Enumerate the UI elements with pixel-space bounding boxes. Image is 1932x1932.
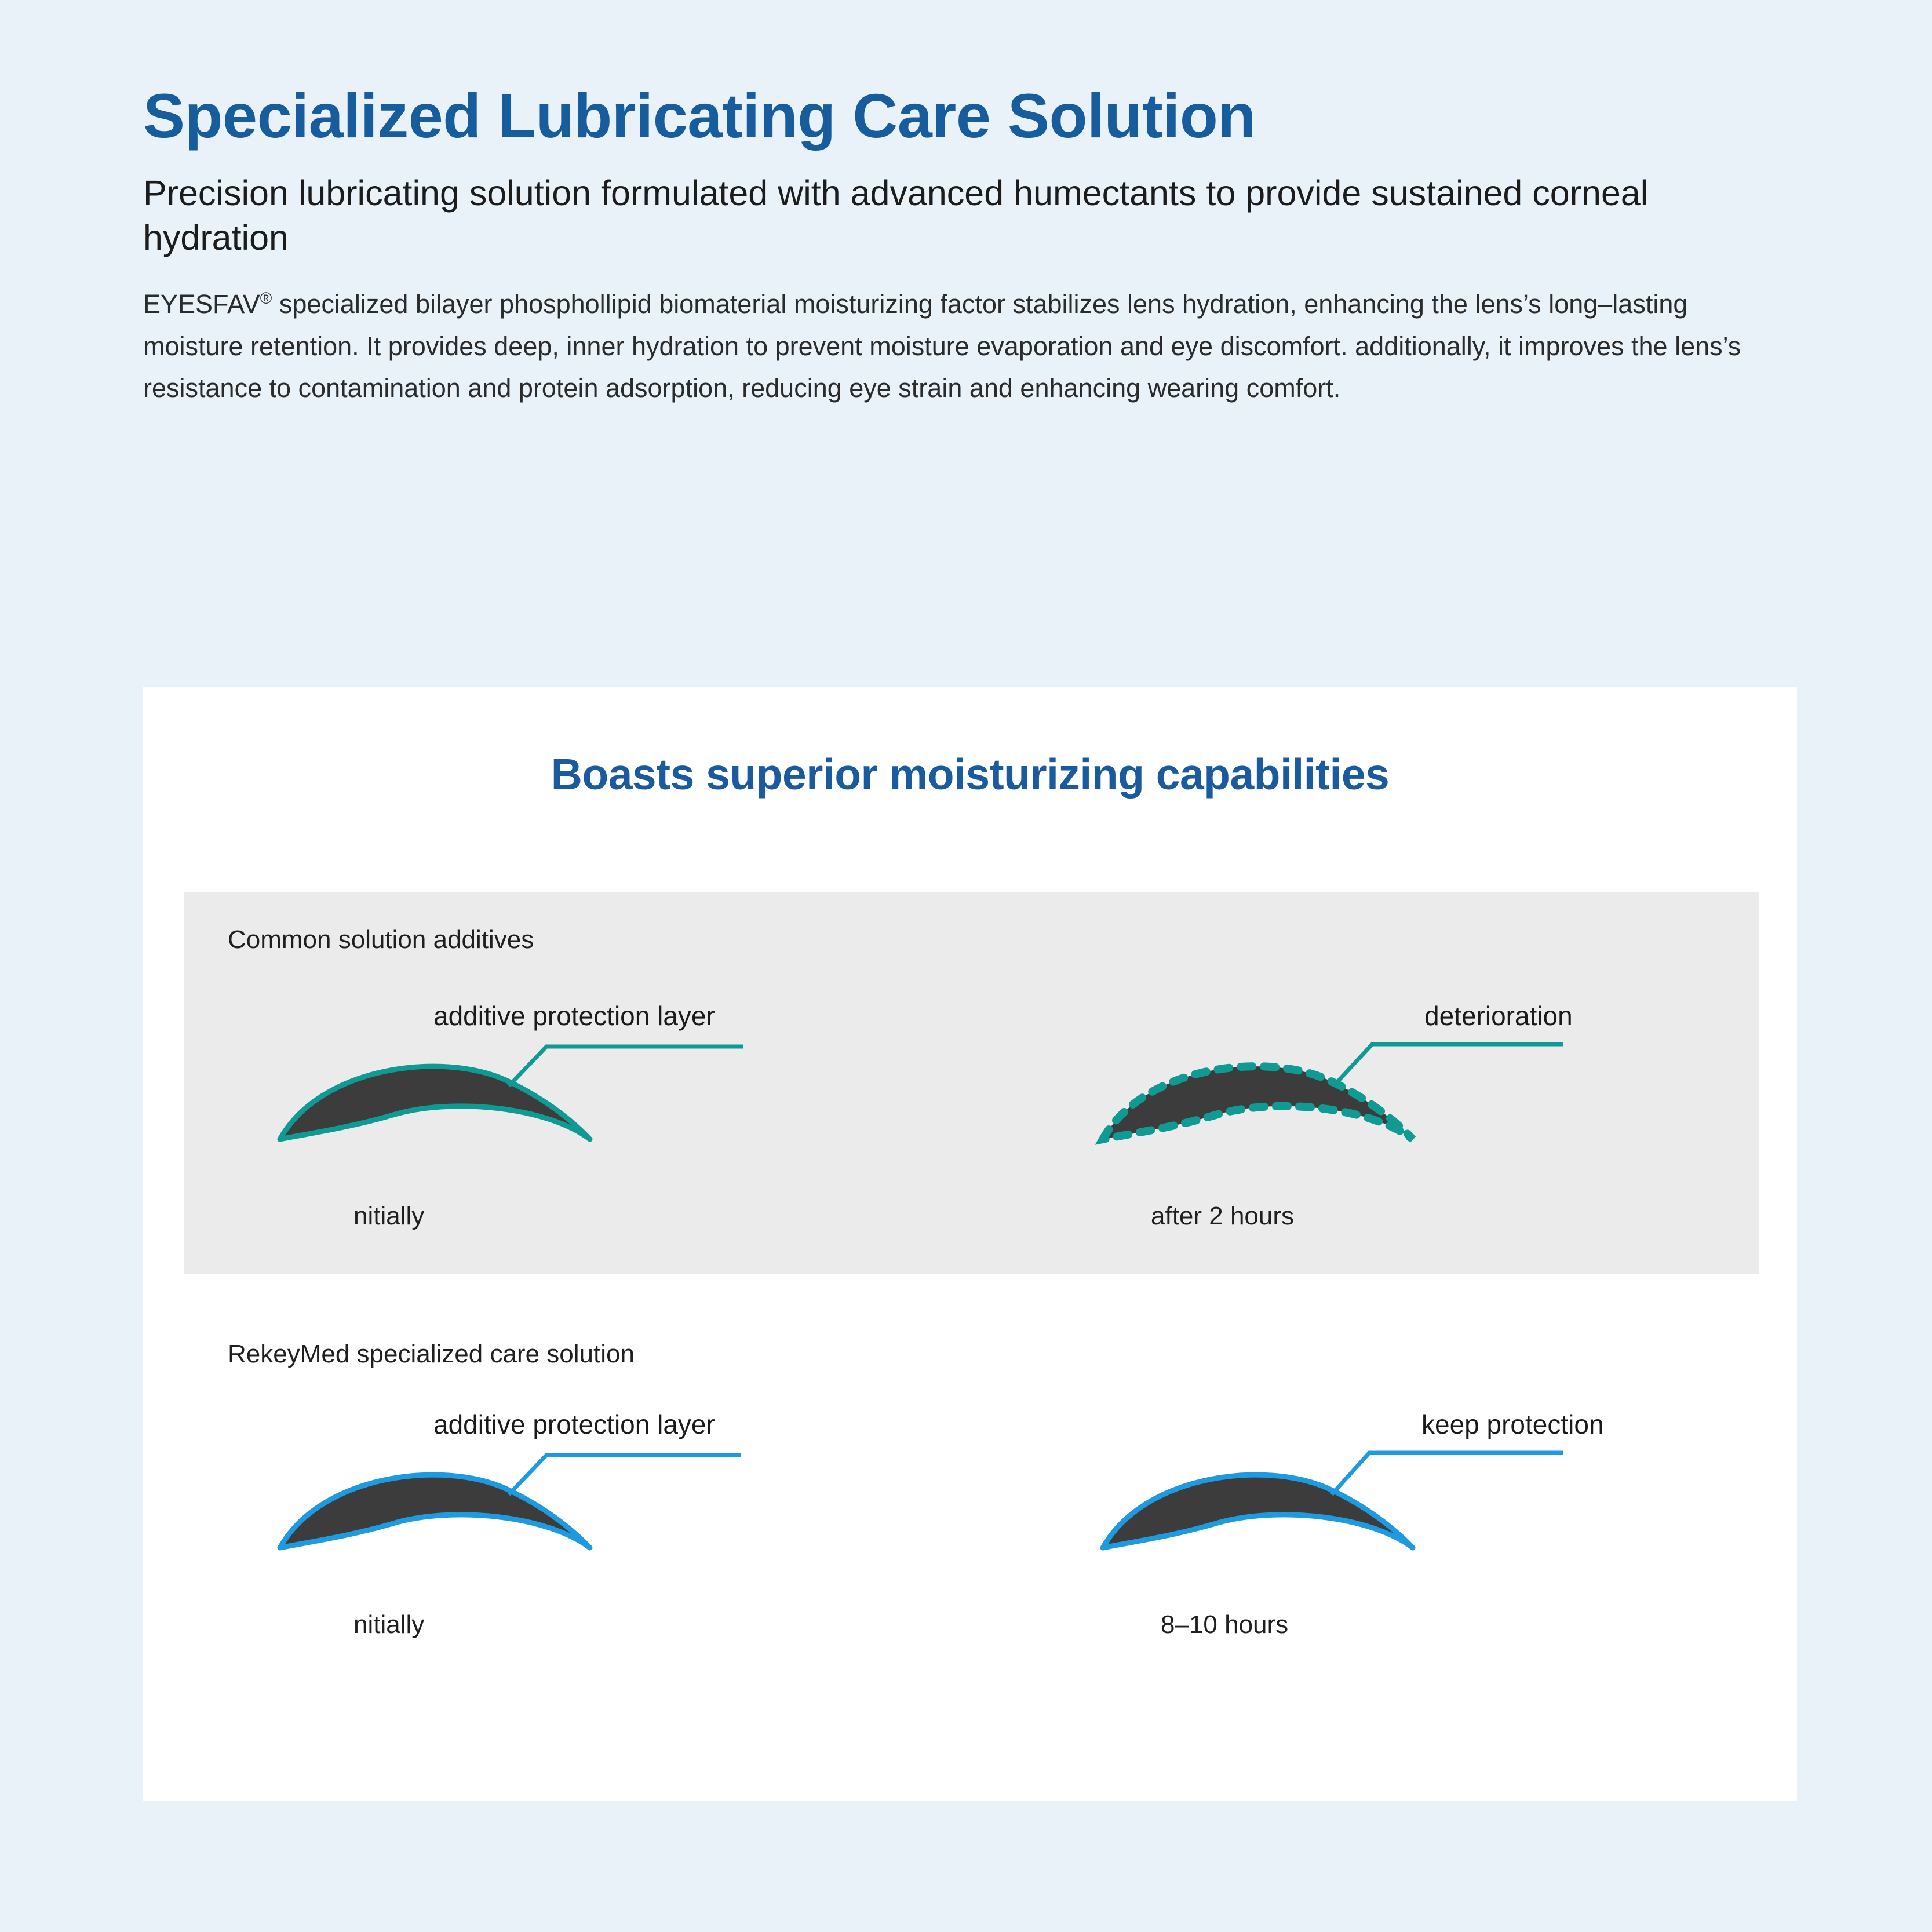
figure-common-initially: additive protection layer nitially — [219, 1011, 885, 1260]
lens-diagram-dashed-teal — [1042, 1011, 1708, 1202]
brand-name: EYESFAV — [143, 289, 260, 319]
lens-shape — [1103, 1475, 1413, 1548]
page-title: Specialized Lubricating Care Solution — [143, 81, 1806, 151]
caption-initially: nitially — [353, 1610, 424, 1639]
caption-8-10-hours: 8–10 hours — [1161, 1610, 1288, 1639]
body-copy: specialized bilayer phosphollipid biomat… — [143, 289, 1741, 403]
figure-rekeymed-initially: additive protection layer nitially — [219, 1419, 885, 1668]
caption-initially: nitially — [353, 1202, 424, 1231]
panel-rekeymed-solution: RekeyMed specialized care solution addit… — [184, 1306, 1759, 1770]
leader-line — [1335, 1044, 1563, 1085]
lens-shape — [280, 1066, 590, 1139]
card-heading: Boasts superior moisturizing capabilitie… — [143, 749, 1797, 799]
page-body-text: EYESFAV® specialized bilayer phosphollip… — [143, 283, 1783, 410]
lens-diagram-solid-teal — [219, 1011, 885, 1202]
figure-common-after-2-hours: deterioration after 2 hours — [1042, 1011, 1708, 1260]
lens-diagram-solid-blue — [1042, 1419, 1708, 1610]
figure-rekeymed-8-10-hours: keep protection 8–10 hours — [1042, 1419, 1708, 1668]
caption-after-2-hours: after 2 hours — [1151, 1202, 1294, 1231]
comparison-card: Boasts superior moisturizing capabilitie… — [143, 687, 1797, 1801]
leader-line — [1332, 1453, 1563, 1494]
leader-line — [509, 1047, 743, 1086]
header-block: Specialized Lubricating Care Solution Pr… — [143, 81, 1806, 410]
lens-diagram-solid-blue — [219, 1419, 885, 1610]
panel-common-additives: Common solution additives additive prote… — [184, 892, 1759, 1274]
page-subtitle: Precision lubricating solution formulate… — [143, 171, 1789, 260]
registered-mark-icon: ® — [260, 289, 272, 307]
panel-label-rekeymed: RekeyMed specialized care solution — [228, 1340, 635, 1369]
panel-label-common: Common solution additives — [228, 925, 534, 954]
leader-line — [509, 1455, 741, 1494]
lens-shape — [280, 1475, 590, 1548]
